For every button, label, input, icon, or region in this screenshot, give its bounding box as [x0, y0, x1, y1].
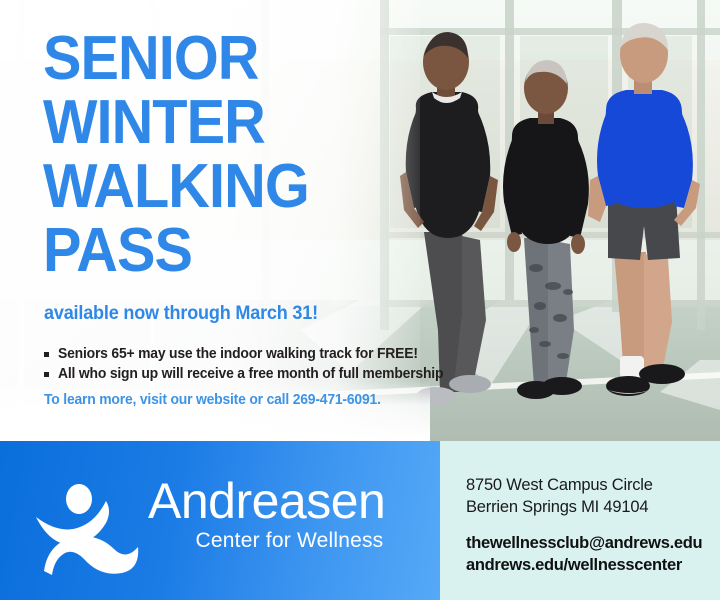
address-line-1: 8750 West Campus Circle: [466, 474, 702, 496]
list-item-label: All who sign up will receive a free mont…: [58, 366, 443, 383]
learn-more-text: To learn more, visit our website or call…: [44, 392, 381, 408]
email-link[interactable]: thewellnessclub@andrews.edu: [466, 532, 702, 554]
list-item: All who sign up will receive a free mont…: [44, 366, 459, 383]
headline-line-4: PASS: [43, 219, 309, 283]
wellness-figure-waves-icon: [34, 477, 154, 577]
page-title: SENIOR WINTER WALKING PASS: [43, 27, 329, 283]
list-item-label: Seniors 65+ may use the indoor walking t…: [58, 346, 418, 363]
availability-subheading: available now through March 31!: [44, 303, 318, 325]
logo-name: Andreasen: [148, 475, 385, 527]
footer-banner: Andreasen Center for Wellness 8750 West …: [0, 441, 720, 600]
headline-line-2: WINTER: [43, 91, 309, 155]
square-bullet-icon: [44, 372, 49, 377]
logo-mark-svg: [34, 477, 154, 577]
contact-panel: 8750 West Campus Circle Berrien Springs …: [440, 441, 720, 600]
contact-block: 8750 West Campus Circle Berrien Springs …: [466, 474, 702, 576]
address-line-2: Berrien Springs MI 49104: [466, 496, 702, 518]
logo-wordmark: Andreasen Center for Wellness: [148, 469, 385, 553]
square-bullet-icon: [44, 352, 49, 357]
headline-line-1: SENIOR: [43, 27, 309, 91]
logo-tagline: Center for Wellness: [148, 529, 385, 553]
contact-spacer: [466, 518, 702, 532]
benefits-list: Seniors 65+ may use the indoor walking t…: [44, 346, 459, 386]
logo-panel: Andreasen Center for Wellness: [0, 441, 440, 600]
brand-logo: Andreasen Center for Wellness: [34, 469, 385, 577]
headline-line-3: WALKING: [43, 155, 309, 219]
poster: SENIOR WINTER WALKING PASS available now…: [0, 0, 720, 600]
list-item: Seniors 65+ may use the indoor walking t…: [44, 346, 459, 363]
website-link[interactable]: andrews.edu/wellnesscenter: [466, 554, 702, 576]
